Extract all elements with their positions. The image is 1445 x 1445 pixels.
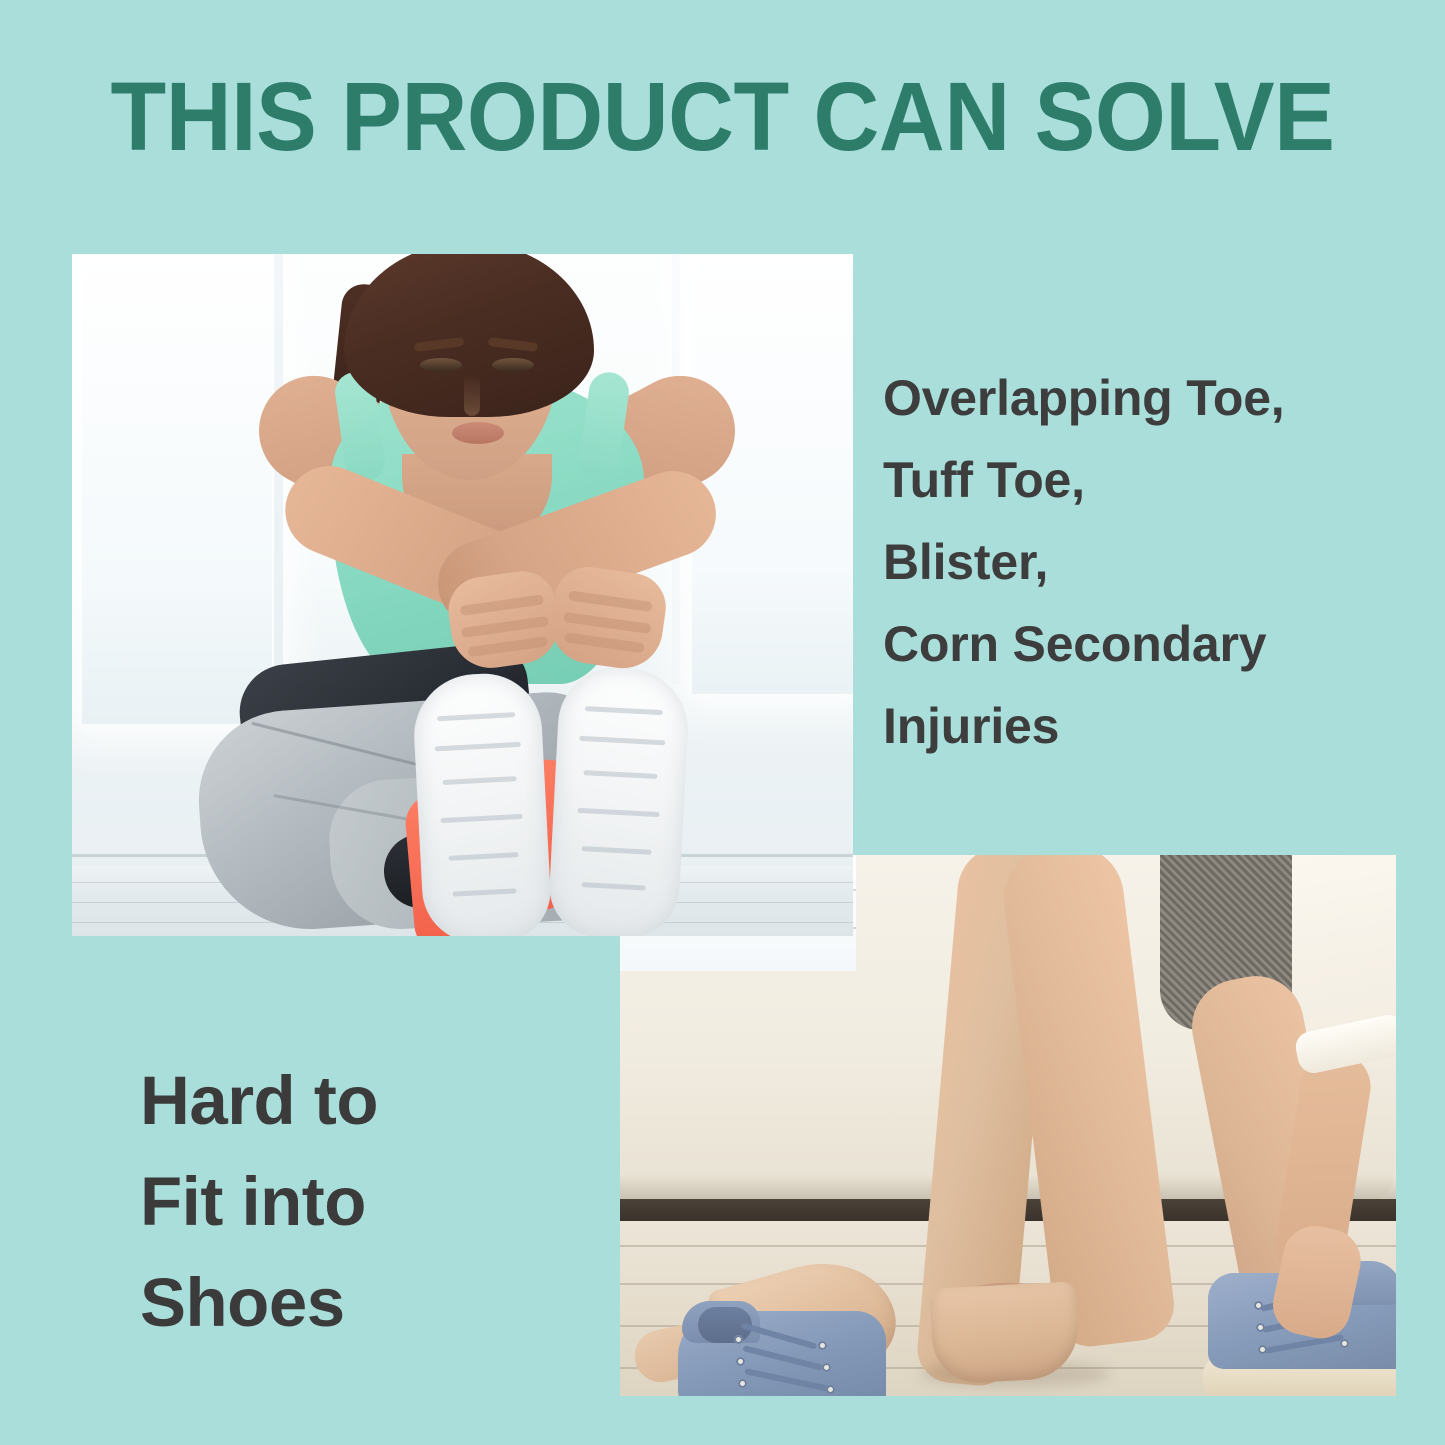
symptom-item: Injuries	[883, 685, 1383, 767]
window-left	[82, 254, 272, 724]
page-title: THIS PRODUCT CAN SOLVE	[43, 68, 1401, 165]
sneaker-sole-right	[547, 665, 691, 936]
infographic-canvas: THIS PRODUCT CAN SOLVE	[0, 0, 1445, 1445]
sneaker-sole-left	[411, 671, 553, 936]
symptom-list: Overlapping Toe, Tuff Toe, Blister, Corn…	[883, 357, 1383, 767]
symptom-item: Corn Secondary	[883, 603, 1383, 685]
problem-line: Fit into	[140, 1151, 600, 1252]
lips	[452, 422, 504, 444]
problem-line: Hard to	[140, 1050, 600, 1151]
window-mullion	[274, 254, 283, 704]
eye-right	[492, 358, 534, 372]
woman-changing-shoes-photo	[620, 855, 1396, 1396]
problem-statement: Hard to Fit into Shoes	[140, 1050, 600, 1353]
problem-line: Shoes	[140, 1252, 600, 1353]
window-right	[692, 254, 853, 694]
woman-stretching-photo	[72, 254, 853, 936]
symptom-item: Blister,	[883, 521, 1383, 603]
symptom-item: Overlapping Toe,	[883, 357, 1383, 439]
nose	[464, 374, 480, 416]
eye-left	[420, 358, 462, 372]
symptom-item: Tuff Toe,	[883, 439, 1383, 521]
